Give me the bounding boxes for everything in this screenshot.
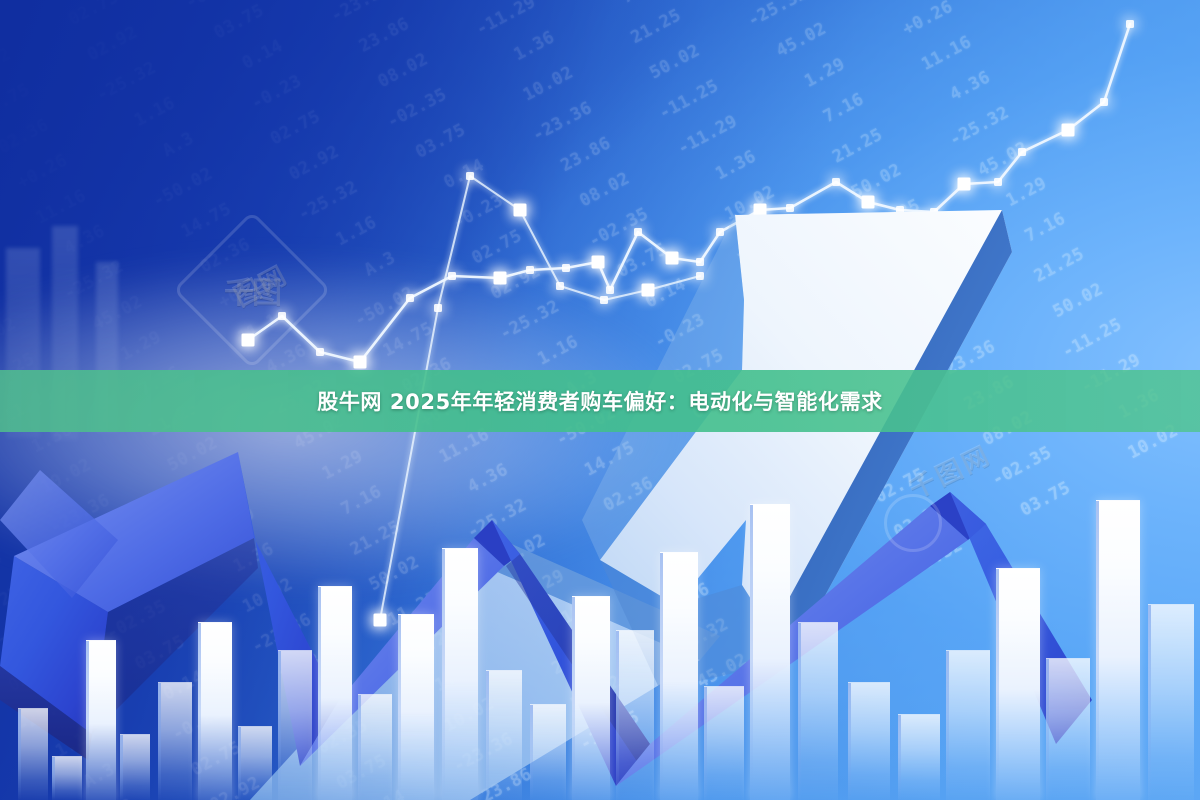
bar-edge <box>946 651 949 800</box>
bar-edge <box>198 623 201 800</box>
bar-edge <box>318 587 321 800</box>
bar-edge <box>848 683 851 800</box>
bar-column <box>86 640 116 800</box>
bar-column <box>946 650 990 800</box>
bar-edge <box>238 727 241 800</box>
bar-edge <box>358 695 361 800</box>
bar-column <box>198 622 232 800</box>
bar-edge <box>572 597 575 800</box>
bar-edge <box>660 553 663 800</box>
bar-column <box>18 708 48 800</box>
bar-edge <box>798 623 801 800</box>
bar-edge <box>1046 659 1049 800</box>
bar-edge <box>1096 501 1099 800</box>
bar-column <box>486 670 522 800</box>
bar-column <box>442 548 478 800</box>
bar-column <box>848 682 890 800</box>
bar-edge <box>750 505 753 800</box>
bar-column <box>358 694 392 800</box>
bar-column <box>750 504 790 800</box>
bar-edge <box>616 631 619 800</box>
bar-column <box>318 586 352 800</box>
bar-column <box>238 726 272 800</box>
bar-edge <box>704 687 707 800</box>
bar-column <box>898 714 940 800</box>
bar-column <box>52 756 82 800</box>
bar-column <box>1046 658 1090 800</box>
bar-edge <box>898 715 901 800</box>
bar-column <box>798 622 838 800</box>
bar-column <box>120 734 150 800</box>
bar-edge <box>996 569 999 800</box>
bar-column <box>996 568 1040 800</box>
bar-column <box>278 650 312 800</box>
title-banner-band: 股牛网 2025年年轻消费者购车偏好：电动化与智能化需求 <box>0 370 1200 432</box>
bar-column <box>530 704 566 800</box>
bar-column <box>398 614 434 800</box>
page-title: 股牛网 2025年年轻消费者购车偏好：电动化与智能化需求 <box>317 386 883 416</box>
bar-column-chart <box>0 440 1200 800</box>
bar-edge <box>486 671 489 800</box>
bar-edge <box>158 683 161 800</box>
bar-edge <box>1148 605 1151 800</box>
bar-edge <box>18 709 21 800</box>
bar-column <box>616 630 654 800</box>
bar-edge <box>398 615 401 800</box>
banner-image: -11.2545.0202.36-25.3203.7510.0221.254.3… <box>0 0 1200 800</box>
bar-column <box>572 596 610 800</box>
bar-column <box>1096 500 1140 800</box>
bar-edge <box>52 757 55 800</box>
bar-edge <box>530 705 533 800</box>
bar-edge <box>120 735 123 800</box>
bar-column <box>158 682 192 800</box>
bar-edge <box>278 651 281 800</box>
bar-column <box>704 686 744 800</box>
bar-edge <box>442 549 445 800</box>
bar-edge <box>86 641 89 800</box>
bar-column <box>1148 604 1194 800</box>
bar-column <box>660 552 698 800</box>
